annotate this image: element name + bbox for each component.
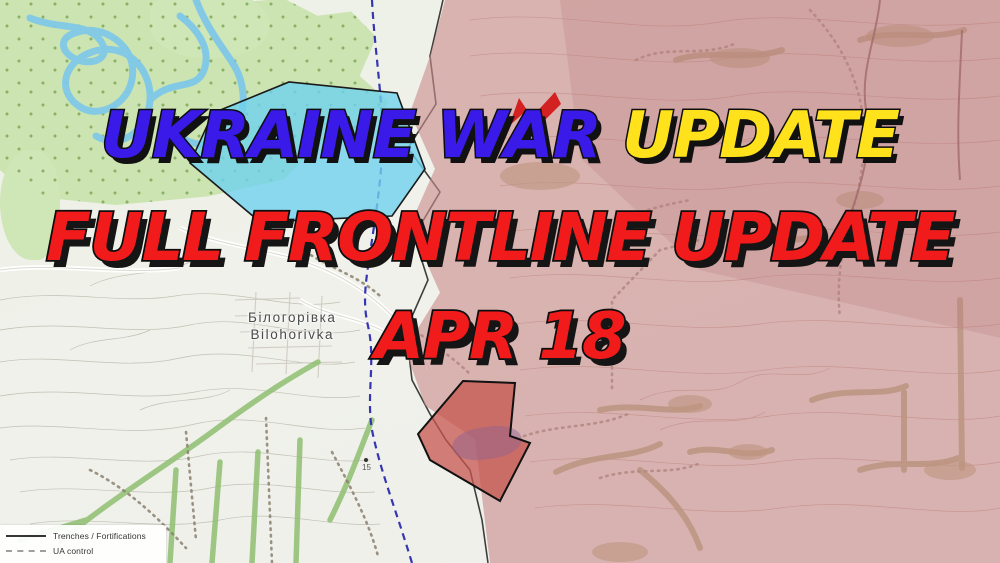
legend-solid-line-icon xyxy=(6,535,46,537)
spot-height-marker: 15 xyxy=(362,458,371,472)
recent-gain-outline xyxy=(418,381,543,501)
legend-label-trenches: Trenches / Fortifications xyxy=(53,531,146,541)
contested-polygon-outline xyxy=(190,82,425,222)
map-legend: Trenches / Fortifications UA control xyxy=(0,525,166,563)
spot-height-dot xyxy=(364,458,368,462)
legend-item-ua-control: UA control xyxy=(6,546,158,556)
legend-item-trenches: Trenches / Fortifications xyxy=(6,531,158,541)
legend-dashed-line-icon xyxy=(6,550,46,552)
spot-height-value: 15 xyxy=(362,463,371,472)
legend-label-ua-control: UA control xyxy=(53,546,93,556)
thumbnail-canvas: Білогорівка Bilohorivka 15 UKRAINE WAR U… xyxy=(0,0,1000,563)
red-advance-arrow-icon xyxy=(503,88,563,134)
